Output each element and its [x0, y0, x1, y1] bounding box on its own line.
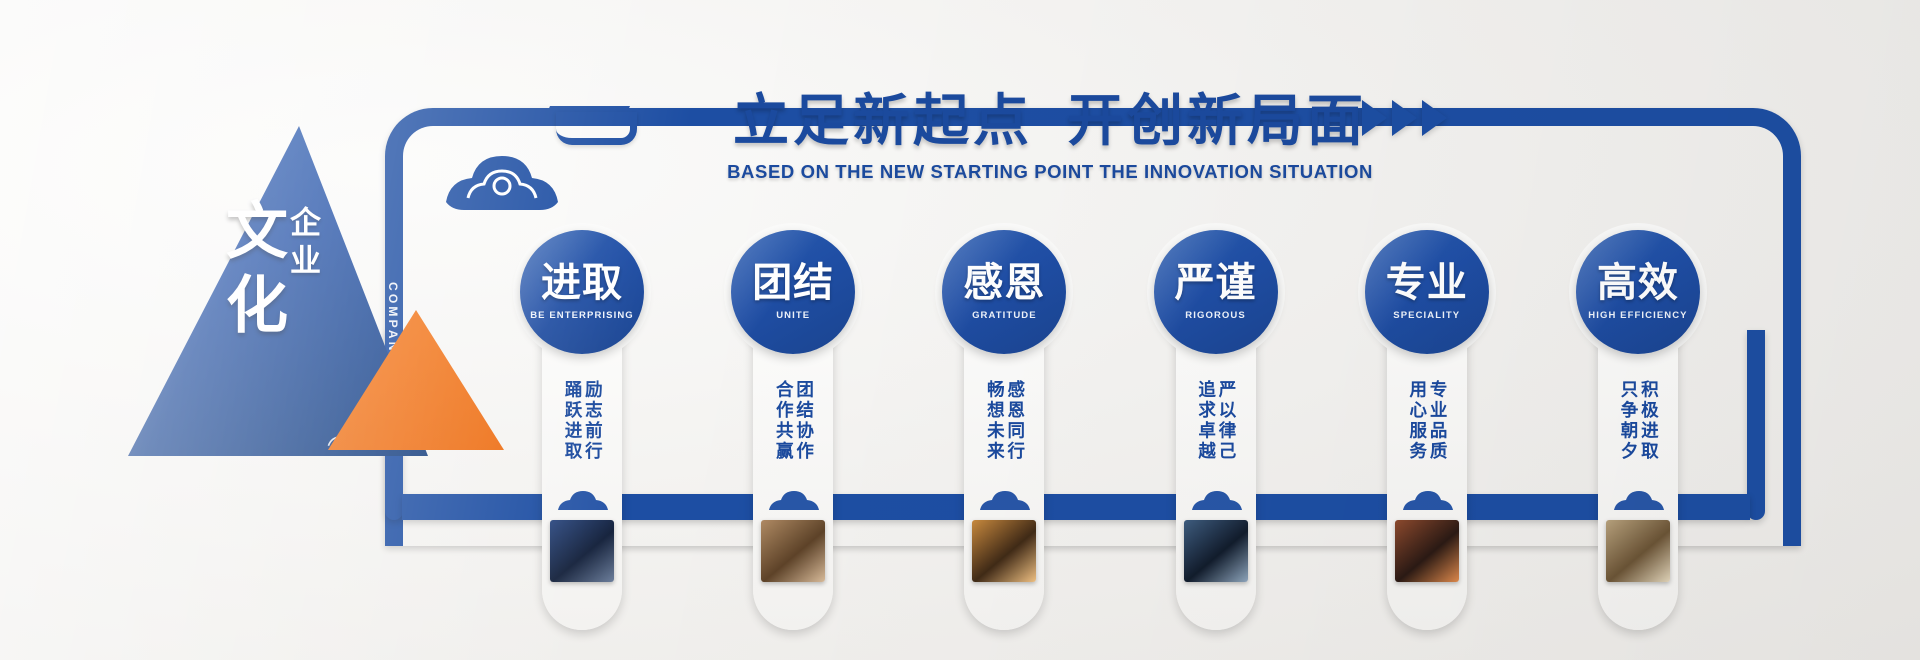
headline-chinese-left: 立足新起点: [733, 89, 1033, 154]
pillar-slogan-line-1: 专业品质: [1428, 380, 1446, 510]
pillar-slogan-line-2: 踊跃进取: [563, 380, 581, 510]
pillar-slogan-line-2: 追求卓越: [1196, 380, 1214, 510]
headline-chinese: 立足新起点开创新局面: [660, 76, 1440, 157]
pillar-badge: 专业SPECIALITY: [1365, 230, 1489, 354]
pillar-slogan-line-2: 畅想未来: [985, 380, 1003, 510]
headline-chinese-right: 开创新局面: [1067, 89, 1367, 154]
headline-block: 立足新起点开创新局面 BASED ON THE NEW STARTING POI…: [660, 76, 1440, 183]
value-pillar-list: 进取BE ENTERPRISING励志前行踊跃进取团结UNITE团结协作合作共赢…: [520, 230, 1700, 630]
pillar-slogan-line-1: 感恩同行: [1005, 380, 1023, 510]
pillar-title-chinese: 高效: [1597, 263, 1679, 303]
pillar-title-chinese: 严谨: [1175, 263, 1257, 303]
photo-eagle-flight: [1184, 520, 1248, 582]
pillar-slogan: 励志前行踊跃进取: [542, 380, 622, 510]
logo-title-chinese: 文化: [220, 198, 282, 346]
value-pillar: 高效HIGH EFFICIENCY积极进取只争朝夕: [1576, 230, 1700, 630]
photo-rocket-launch: [550, 520, 614, 582]
chevron-right-icon: [1422, 100, 1447, 136]
photo-handshake-team: [761, 520, 825, 582]
pillar-slogan-line-1: 严以律己: [1217, 380, 1235, 510]
value-pillar: 进取BE ENTERPRISING励志前行踊跃进取: [520, 230, 644, 630]
pillar-slogan: 团结协作合作共赢: [753, 380, 833, 510]
pillar-title-english: UNITE: [776, 310, 810, 321]
pillar-title-chinese: 团结: [752, 263, 834, 303]
pillar-badge: 进取BE ENTERPRISING: [520, 230, 644, 354]
photo-sunset-silhouette: [972, 520, 1036, 582]
value-pillar: 感恩GRATITUDE感恩同行畅想未来: [942, 230, 1066, 630]
pillar-title-chinese: 进取: [541, 263, 623, 303]
chevron-right-icon: [1392, 100, 1417, 136]
pillar-slogan: 严以律己追求卓越: [1176, 380, 1256, 510]
pillar-badge: 高效HIGH EFFICIENCY: [1576, 230, 1700, 354]
pillar-title-english: BE ENTERPRISING: [530, 310, 634, 321]
chevron-group: [1362, 100, 1447, 136]
value-pillar: 团结UNITE团结协作合作共赢: [731, 230, 855, 630]
photo-highway-night: [1395, 520, 1459, 582]
culture-wall-scene: 文化 企业 COMPANY CULTURE 立足新起点开创新局面 BASED O…: [0, 0, 1920, 660]
pillar-title-chinese: 专业: [1386, 263, 1468, 303]
pillar-slogan: 积极进取只争朝夕: [1598, 380, 1678, 510]
pillar-slogan-line-2: 只争朝夕: [1619, 380, 1637, 510]
pillar-title-chinese: 感恩: [963, 263, 1045, 303]
pillar-badge: 团结UNITE: [731, 230, 855, 354]
value-pillar: 严谨RIGOROUS严以律己追求卓越: [1154, 230, 1278, 630]
pillar-title-english: GRATITUDE: [972, 310, 1037, 321]
pillar-slogan-line-1: 团结协作: [794, 380, 812, 510]
pillar-title-english: RIGOROUS: [1185, 310, 1246, 321]
pillar-slogan-line-2: 合作共赢: [774, 380, 792, 510]
photo-pocket-watch: [1606, 520, 1670, 582]
value-pillar: 专业SPECIALITY专业品质用心服务: [1365, 230, 1489, 630]
pillar-badge: 严谨RIGOROUS: [1154, 230, 1278, 354]
headline-english: BASED ON THE NEW STARTING POINT THE INNO…: [660, 161, 1440, 183]
chevron-right-icon: [1362, 100, 1387, 136]
pillar-slogan-line-2: 用心服务: [1407, 380, 1425, 510]
chinese-cloud-icon: [440, 140, 590, 220]
pillar-slogan: 感恩同行畅想未来: [964, 380, 1044, 510]
frame-right-tail: [1747, 330, 1765, 520]
pillar-slogan: 专业品质用心服务: [1387, 380, 1467, 510]
pillar-badge: 感恩GRATITUDE: [942, 230, 1066, 354]
pillar-slogan-line-1: 积极进取: [1639, 380, 1657, 510]
pillar-slogan-line-1: 励志前行: [583, 380, 601, 510]
logo-subtitle-chinese: 企业: [286, 206, 317, 282]
pillar-title-english: HIGH EFFICIENCY: [1588, 310, 1687, 321]
pillar-title-english: SPECIALITY: [1393, 310, 1460, 321]
